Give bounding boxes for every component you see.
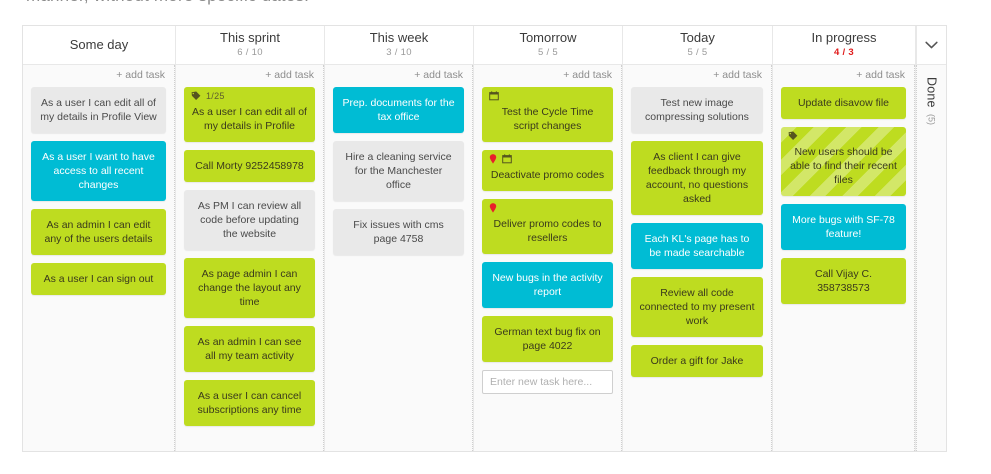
column-body: + add taskAs a user I can edit all of my… <box>23 65 175 451</box>
add-task-button[interactable]: + add task <box>333 65 464 87</box>
task-card-text: As a user I can sign out <box>39 272 158 286</box>
task-card-text: As a user I can edit all of my details i… <box>39 96 158 124</box>
kanban-column-in-progress: In progress4 / 3+ add taskUpdate disavow… <box>773 26 916 451</box>
kanban-column-tomorrow: Tomorrow5 / 5+ add taskTest the Cycle Ti… <box>474 26 623 451</box>
calendar-icon <box>502 154 512 164</box>
kanban-column-some-day: Some day+ add taskAs a user I can edit a… <box>23 26 176 451</box>
add-task-button[interactable]: + add task <box>631 65 763 87</box>
task-card[interactable]: German text bug fix on page 4022 <box>482 316 613 362</box>
column-header[interactable]: This sprint6 / 10 <box>176 26 324 65</box>
column-title: In progress <box>811 31 876 45</box>
task-card-text: Update disavow file <box>789 96 898 110</box>
column-header[interactable]: Some day <box>23 26 175 65</box>
add-task-button[interactable]: + add task <box>482 65 613 87</box>
task-card-text: Deliver promo codes to resellers <box>490 217 605 245</box>
task-card[interactable]: Each KL's page has to be made searchable <box>631 223 763 269</box>
task-card-text: As an admin I can edit any of the users … <box>39 218 158 246</box>
done-column-count: (5) <box>927 114 937 125</box>
new-task-input[interactable] <box>482 370 613 394</box>
task-card-text: Review all code connected to my present … <box>639 286 755 328</box>
task-card-text: Deactivate promo codes <box>490 168 605 182</box>
task-card-text: Fix issues with cms page 4758 <box>341 218 456 246</box>
task-card-text: Test the Cycle Time script changes <box>490 105 605 133</box>
kanban-column-today: Today5 / 5+ add taskTest new image compr… <box>623 26 773 451</box>
card-badges <box>489 202 497 214</box>
tag-icon <box>788 131 798 141</box>
kanban-column-done-collapsed: Done(5) <box>916 26 946 451</box>
column-body: + add taskTest the Cycle Time script cha… <box>474 65 622 451</box>
card-badges <box>489 90 499 102</box>
task-card[interactable]: Fix issues with cms page 4758 <box>333 209 464 255</box>
tag-icon <box>191 91 201 101</box>
column-header[interactable]: Today5 / 5 <box>623 26 772 65</box>
add-task-button[interactable]: + add task <box>781 65 906 87</box>
column-wip-count: 5 / 5 <box>688 47 708 59</box>
task-card[interactable]: Test the Cycle Time script changes <box>482 87 613 142</box>
task-card[interactable]: As a user I can edit all of my details i… <box>31 87 166 133</box>
column-header[interactable]: In progress4 / 3 <box>773 26 915 65</box>
done-column-label-wrap: Done(5) <box>925 77 939 125</box>
task-card[interactable]: Test new image compressing solutions <box>631 87 763 133</box>
card-badges: 1/25 <box>191 90 225 102</box>
task-card[interactable]: Call Vijay C. 358738573 <box>781 258 906 304</box>
task-card-text: As a user I can cancel subscriptions any… <box>192 389 307 417</box>
task-card[interactable]: Order a gift for Jake <box>631 345 763 377</box>
card-badges <box>489 153 512 165</box>
column-title: Tomorrow <box>519 31 576 45</box>
column-wip-count: 6 / 10 <box>237 47 263 59</box>
pin-icon <box>489 203 497 213</box>
task-card[interactable]: Deactivate promo codes <box>482 150 613 191</box>
task-card[interactable]: Deliver promo codes to resellers <box>482 199 613 254</box>
column-body: + add task1/25As a user I can edit all o… <box>176 65 324 451</box>
kanban-column-this-week: This week3 / 10+ add taskPrep. documents… <box>325 26 474 451</box>
task-card[interactable]: As an admin I can edit any of the users … <box>31 209 166 255</box>
task-card-text: More bugs with SF-78 feature! <box>789 213 898 241</box>
task-card[interactable]: Prep. documents for the tax office <box>333 87 464 133</box>
column-title: This sprint <box>220 31 280 45</box>
column-body: + add taskTest new image compressing sol… <box>623 65 772 451</box>
task-card-text: As a user I can edit all of my details i… <box>192 105 307 133</box>
column-wip-count: 3 / 10 <box>386 47 412 59</box>
task-card-text: As client I can give feedback through my… <box>639 150 755 206</box>
task-card[interactable]: New users should be able to find their r… <box>781 127 906 196</box>
task-card-text: Hire a cleaning service for the Manchest… <box>341 150 456 192</box>
task-card-text: Call Morty 9252458978 <box>192 159 307 173</box>
task-card-text: New bugs in the activity report <box>490 271 605 299</box>
pin-icon <box>489 154 497 164</box>
chevron-down-icon <box>925 41 938 50</box>
calendar-icon <box>489 91 499 101</box>
column-title: Some day <box>70 38 129 52</box>
column-title: This week <box>370 31 429 45</box>
page-intro-text: manner, without more specific dates. <box>26 0 309 6</box>
task-card[interactable]: As a user I can sign out <box>31 263 166 295</box>
task-card[interactable]: As client I can give feedback through my… <box>631 141 763 215</box>
task-card[interactable]: New bugs in the activity report <box>482 262 613 308</box>
task-card-text: As PM I can review all code before updat… <box>192 199 307 241</box>
column-header[interactable]: Tomorrow5 / 5 <box>474 26 622 65</box>
task-card[interactable]: As a user I want to have access to all r… <box>31 141 166 201</box>
add-task-button[interactable]: + add task <box>184 65 315 87</box>
done-column-body[interactable]: Done(5) <box>916 65 946 451</box>
card-badges <box>788 130 798 142</box>
column-header[interactable]: This week3 / 10 <box>325 26 473 65</box>
kanban-page: manner, without more specific dates. Som… <box>0 0 991 474</box>
task-card[interactable]: 1/25As a user I can edit all of my detai… <box>184 87 315 142</box>
column-wip-count: 5 / 5 <box>538 47 558 59</box>
expand-done-column-button[interactable] <box>916 26 946 65</box>
task-card[interactable]: As an admin I can see all my team activi… <box>184 326 315 372</box>
task-card[interactable]: More bugs with SF-78 feature! <box>781 204 906 250</box>
task-card-text: As page admin I can change the layout an… <box>192 267 307 309</box>
task-card-text: Order a gift for Jake <box>639 354 755 368</box>
column-body: + add taskPrep. documents for the tax of… <box>325 65 473 451</box>
task-card[interactable]: As a user I can cancel subscriptions any… <box>184 380 315 426</box>
task-card[interactable]: Update disavow file <box>781 87 906 119</box>
add-task-button[interactable]: + add task <box>31 65 166 87</box>
task-card[interactable]: Call Morty 9252458978 <box>184 150 315 182</box>
done-column-title: Done <box>925 77 939 108</box>
task-card[interactable]: As PM I can review all code before updat… <box>184 190 315 250</box>
task-card-text: As a user I want to have access to all r… <box>39 150 158 192</box>
task-card-text: New users should be able to find their r… <box>789 145 898 187</box>
kanban-board: Some day+ add taskAs a user I can edit a… <box>22 25 947 452</box>
task-card-text: As an admin I can see all my team activi… <box>192 335 307 363</box>
task-card[interactable]: Hire a cleaning service for the Manchest… <box>333 141 464 201</box>
task-card-text: Test new image compressing solutions <box>639 96 755 124</box>
kanban-column-this-sprint: This sprint6 / 10+ add task1/25As a user… <box>176 26 325 451</box>
task-card-text: Prep. documents for the tax office <box>341 96 456 124</box>
column-body: + add taskUpdate disavow fileNew users s… <box>773 65 915 451</box>
column-wip-count: 4 / 3 <box>834 47 854 59</box>
task-card-text: Call Vijay C. 358738573 <box>789 267 898 295</box>
task-card-text: Each KL's page has to be made searchable <box>639 232 755 260</box>
task-card[interactable]: As page admin I can change the layout an… <box>184 258 315 318</box>
task-card[interactable]: Review all code connected to my present … <box>631 277 763 337</box>
column-title: Today <box>680 31 715 45</box>
card-badge-label: 1/25 <box>206 91 225 101</box>
task-card-text: German text bug fix on page 4022 <box>490 325 605 353</box>
